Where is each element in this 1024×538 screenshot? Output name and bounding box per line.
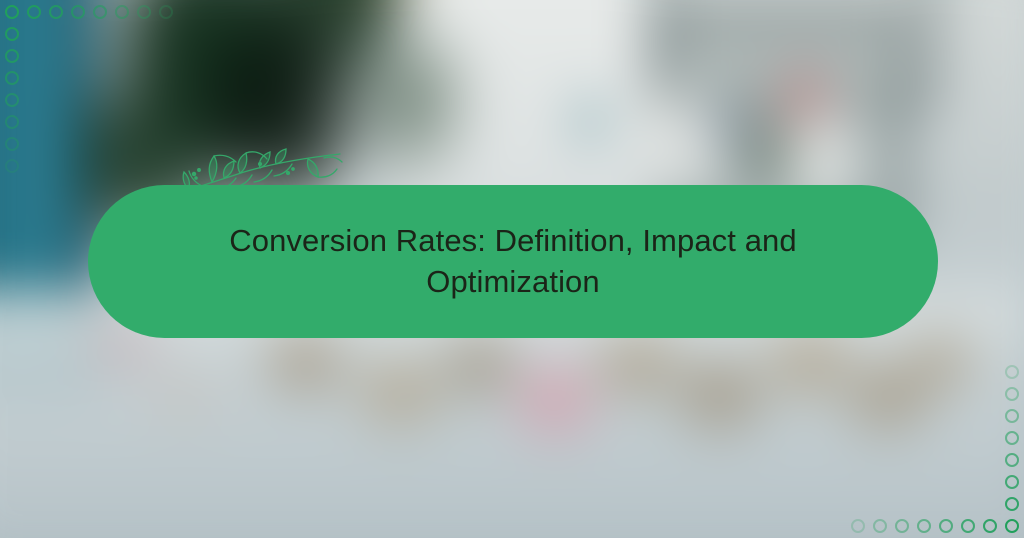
decorative-dot xyxy=(895,519,909,533)
decorative-dot xyxy=(1005,519,1019,533)
decorative-dot xyxy=(939,519,953,533)
table-object xyxy=(130,350,240,440)
decorative-dot xyxy=(49,5,63,19)
decorative-dot xyxy=(5,115,19,129)
decorative-dot xyxy=(851,519,865,533)
dot-pattern-bottom-right xyxy=(851,365,1019,533)
decorative-dot xyxy=(71,5,85,19)
decorative-dot xyxy=(1005,497,1019,511)
decorative-dot xyxy=(115,5,129,19)
decorative-dot xyxy=(1005,431,1019,445)
decorative-dot xyxy=(137,5,151,19)
decorative-dot xyxy=(159,5,173,19)
decorative-dot xyxy=(1005,453,1019,467)
decorative-dot xyxy=(1005,387,1019,401)
teal-object xyxy=(560,70,620,170)
decorative-dot xyxy=(873,519,887,533)
decorative-dot xyxy=(5,5,19,19)
title-banner: Conversion Rates: Definition, Impact and… xyxy=(88,185,938,338)
decorative-dot xyxy=(27,5,41,19)
decorative-dot xyxy=(5,49,19,63)
decorative-dot xyxy=(5,71,19,85)
article-header-card: Conversion Rates: Definition, Impact and… xyxy=(0,0,1024,538)
page-title: Conversion Rates: Definition, Impact and… xyxy=(173,221,853,303)
decorative-dot xyxy=(961,519,975,533)
decorative-dot xyxy=(5,93,19,107)
decorative-dot xyxy=(5,159,19,173)
decorative-dot xyxy=(5,137,19,151)
decorative-dot xyxy=(5,27,19,41)
decorative-dot xyxy=(1005,475,1019,489)
decorative-dot xyxy=(983,519,997,533)
decorative-dot xyxy=(1005,365,1019,379)
decorative-dot xyxy=(93,5,107,19)
decorative-dot xyxy=(917,519,931,533)
decorative-dot xyxy=(1005,409,1019,423)
